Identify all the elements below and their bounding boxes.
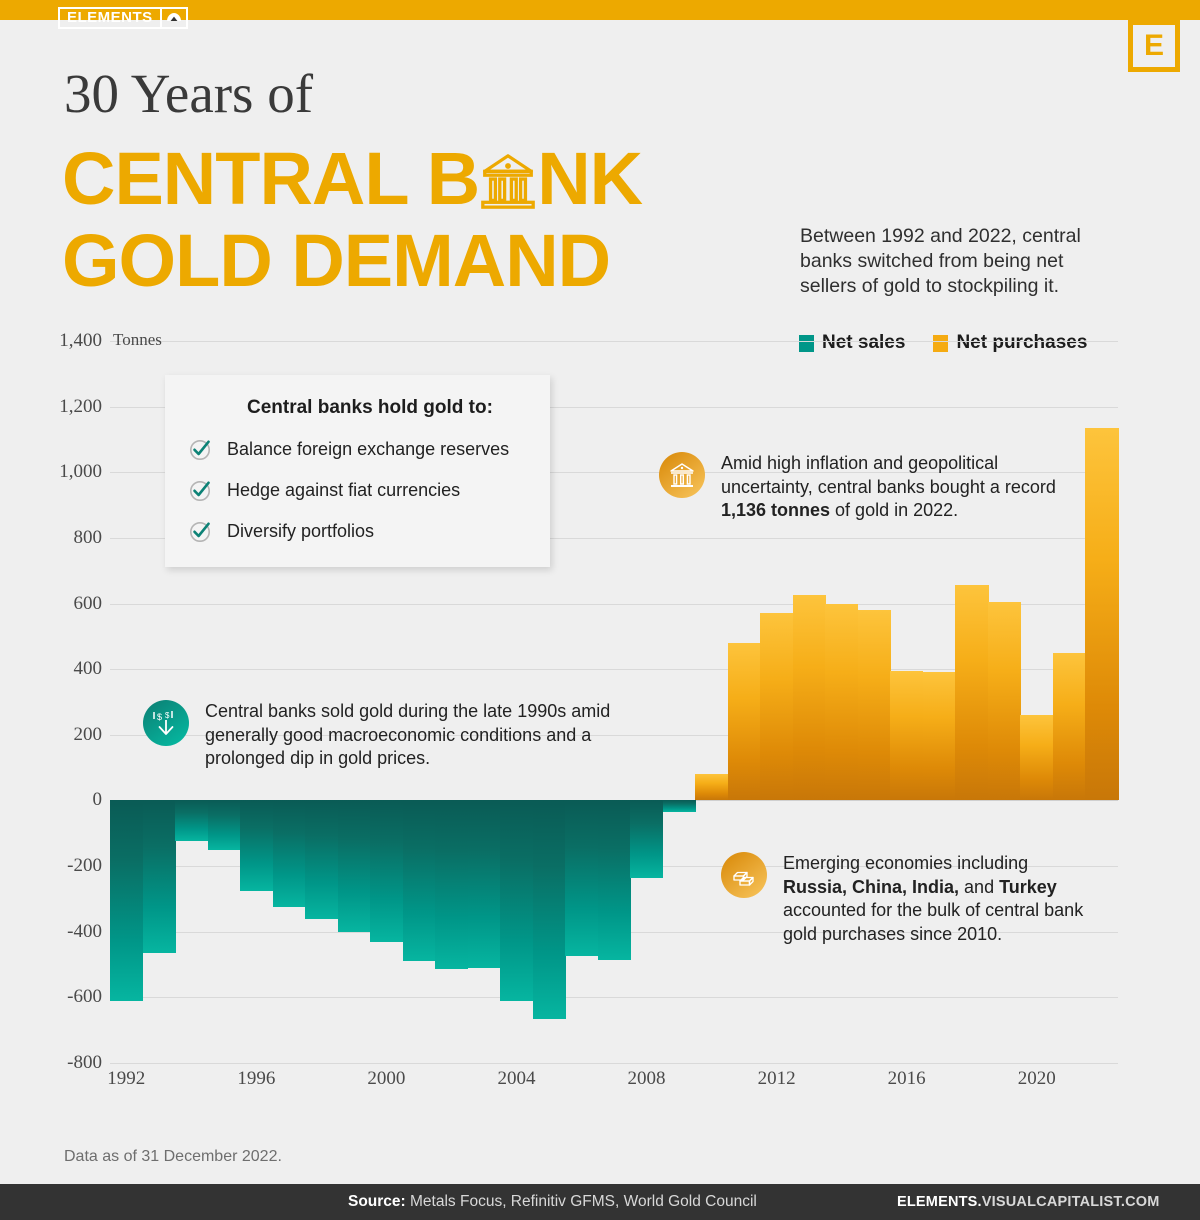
list-item: Balance foreign exchange reserves (189, 437, 526, 461)
check-circle-icon (189, 437, 213, 461)
x-axis-tick-label: 2020 (1018, 1068, 1056, 1090)
check-circle-icon (189, 478, 213, 502)
y-axis-tick-label: 1,400 (2, 330, 102, 352)
bar-2007 (598, 800, 631, 959)
bar-2009 (663, 800, 696, 811)
gridline (110, 997, 1118, 998)
annotation-text-part1: Amid high inflation and geopolitical unc… (721, 453, 1056, 497)
bar-2005 (533, 800, 566, 1018)
info-card: Central banks hold gold to: Balance fore… (165, 375, 550, 567)
gridline (110, 1063, 1118, 1064)
bar-2013 (793, 595, 826, 800)
x-axis-tick-label: 1992 (107, 1068, 145, 1090)
y-axis-tick-label: 800 (2, 527, 102, 549)
bar-chart: 1,4001,2001,0008006004002000-200-400-600… (0, 0, 1200, 1220)
y-axis-tick-label: -600 (2, 986, 102, 1008)
annotation-net-sales-1990s: $ $ Central banks sold gold during the l… (143, 700, 643, 771)
elements-footer-logo-text: ELEMENTS (60, 9, 160, 27)
info-card-list: Balance foreign exchange reserves Hedge … (189, 437, 526, 543)
bar-1999 (338, 800, 371, 931)
annotation-text: Central banks sold gold during the late … (205, 700, 635, 771)
svg-text:$: $ (157, 712, 162, 722)
footer-source: Source: Metals Focus, Refinitiv GFMS, Wo… (348, 1193, 757, 1211)
y-axis-tick-label: 400 (2, 658, 102, 680)
gridline (110, 341, 1118, 342)
y-axis-tick-label: 1,200 (2, 396, 102, 418)
x-axis-tick-label: 2016 (888, 1068, 926, 1090)
annotation-text: Emerging economies including Russia, Chi… (783, 852, 1093, 946)
bar-2022 (1085, 428, 1118, 801)
annotation-text-part2: of gold in 2022. (830, 500, 958, 520)
bar-2006 (565, 800, 598, 956)
footer-website-domain: VISUALCAPITALIST.COM (982, 1194, 1160, 1210)
x-axis-tick-label: 2008 (628, 1068, 666, 1090)
bar-2012 (760, 613, 793, 800)
x-axis-tick-label: 2004 (497, 1068, 535, 1090)
svg-text:$: $ (165, 711, 170, 720)
bar-2017 (923, 672, 956, 800)
y-axis-tick-label: 200 (2, 724, 102, 746)
info-card-item-label: Diversify portfolios (227, 521, 374, 542)
x-axis-tick-label: 2012 (758, 1068, 796, 1090)
bar-1994 (175, 800, 208, 841)
bar-2014 (825, 604, 858, 801)
annotation-text-part2: and (959, 877, 999, 897)
falling-price-arrow-icon: $ $ (143, 700, 189, 746)
bar-1996 (240, 800, 273, 890)
annotation-text-part1: Emerging economies including (783, 853, 1028, 873)
bar-1995 (208, 800, 241, 849)
bar-1997 (273, 800, 306, 907)
bar-1992 (110, 800, 143, 1000)
annotation-emerging-economies: Emerging economies including Russia, Chi… (721, 852, 1121, 946)
bar-2011 (728, 643, 761, 801)
elements-footer-logo: ELEMENTS (58, 7, 188, 29)
list-item: Diversify portfolios (189, 519, 526, 543)
check-circle-icon (189, 519, 213, 543)
x-axis-tick-label: 2000 (367, 1068, 405, 1090)
bar-2000 (370, 800, 403, 941)
bar-1998 (305, 800, 338, 918)
y-axis-tick-label: 0 (2, 789, 102, 811)
data-asof-note: Data as of 31 December 2022. (64, 1148, 282, 1166)
info-card-item-label: Hedge against fiat currencies (227, 480, 460, 501)
bar-2002 (435, 800, 468, 969)
infographic-page: E 30 Years of CENTRAL BNK GOLD DEMAND Be… (0, 0, 1200, 1220)
bar-2021 (1053, 653, 1086, 801)
y-axis-unit-label: Tonnes (113, 330, 162, 350)
bar-2016 (890, 671, 923, 801)
bank-building-icon (659, 452, 705, 498)
y-axis-tick-label: -800 (2, 1052, 102, 1074)
annotation-text-part3: accounted for the bulk of central bank g… (783, 900, 1083, 944)
x-axis-tick-label: 1996 (237, 1068, 275, 1090)
annotation-record-2022: Amid high inflation and geopolitical unc… (659, 452, 1079, 523)
info-card-title: Central banks hold gold to: (247, 397, 526, 419)
footer-source-text: Metals Focus, Refinitiv GFMS, World Gold… (406, 1193, 757, 1210)
bar-2008 (630, 800, 663, 877)
annotation-text-bold: 1,136 tonnes (721, 500, 830, 520)
footer-website[interactable]: ELEMENTS.VISUALCAPITALIST.COM (897, 1194, 1160, 1210)
y-axis-tick-label: -400 (2, 921, 102, 943)
list-item: Hedge against fiat currencies (189, 478, 526, 502)
annotation-text-bold-2: Turkey (999, 877, 1057, 897)
info-card-item-label: Balance foreign exchange reserves (227, 439, 509, 460)
footer-website-brand: ELEMENTS. (897, 1194, 982, 1210)
annotation-text: Amid high inflation and geopolitical unc… (721, 452, 1061, 523)
y-axis-tick-label: 600 (2, 593, 102, 615)
bar-2003 (468, 800, 501, 967)
y-axis-tick-label: -200 (2, 855, 102, 877)
y-axis-tick-label: 1,000 (2, 461, 102, 483)
bar-2010 (695, 774, 728, 800)
bar-2019 (988, 602, 1021, 801)
bar-2001 (403, 800, 436, 961)
mountain-arch-icon (160, 9, 186, 27)
bar-2020 (1020, 715, 1053, 800)
bar-2004 (500, 800, 533, 1000)
bar-2018 (955, 585, 988, 800)
footer-source-label: Source: (348, 1193, 406, 1210)
annotation-text-bold: Russia, China, India, (783, 877, 959, 897)
gold-bars-icon (721, 852, 767, 898)
bar-2015 (858, 610, 891, 800)
bar-1993 (143, 800, 176, 953)
